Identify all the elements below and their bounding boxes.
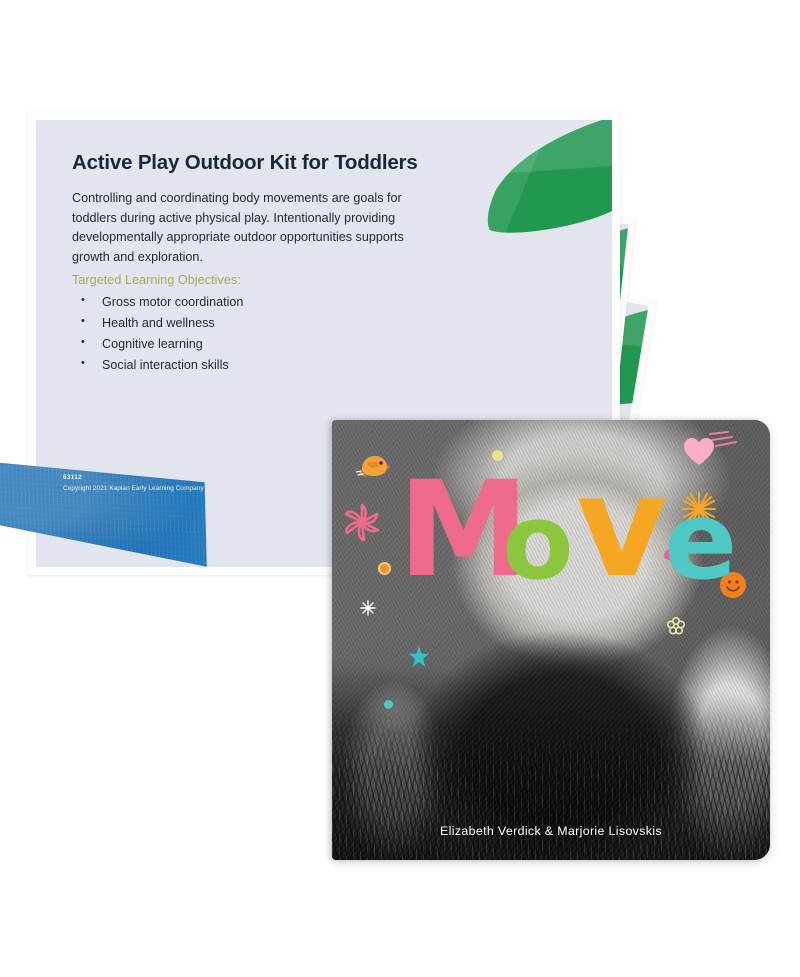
objectives-heading: Targeted Learning Objectives: — [72, 273, 241, 287]
title-letter-v: v — [576, 458, 667, 598]
book-cover: M o v e Elizabeth Verdick & Marjorie Lis… — [332, 420, 770, 860]
flower-yellow-doodle-icon — [666, 616, 686, 636]
snowflake-white-doodle-icon — [360, 600, 376, 616]
dot-teal-doodle-icon — [384, 700, 393, 709]
green-wedge-icon — [484, 116, 619, 234]
kit-description: Controlling and coordinating body moveme… — [72, 189, 440, 267]
title-letter-o: o — [502, 490, 573, 594]
blue-wedge-banner — [0, 455, 220, 585]
title-letter-e: e — [664, 488, 737, 596]
sku-number: 63112 — [63, 474, 82, 481]
copyright-text: Copyright 2021 Kaplan Early Learning Com… — [63, 485, 204, 492]
blue-wedge-texture — [0, 455, 220, 585]
list-item: Social interaction skills — [78, 355, 243, 376]
list-item: Health and wellness — [78, 313, 243, 334]
book-authors: Elizabeth Verdick & Marjorie Lisovskis — [332, 824, 770, 838]
list-item: Cognitive learning — [78, 334, 243, 355]
list-item: Gross motor coordination — [78, 292, 243, 313]
kit-title: Active Play Outdoor Kit for Toddlers — [72, 151, 492, 175]
objectives-list: Gross motor coordination Health and well… — [78, 292, 243, 376]
book-title-move: M o v e — [346, 448, 756, 578]
star-teal-doodle-icon — [408, 646, 430, 668]
product-image-stage: Active Play Outdoor Kit for Toddlers Con… — [0, 0, 800, 977]
